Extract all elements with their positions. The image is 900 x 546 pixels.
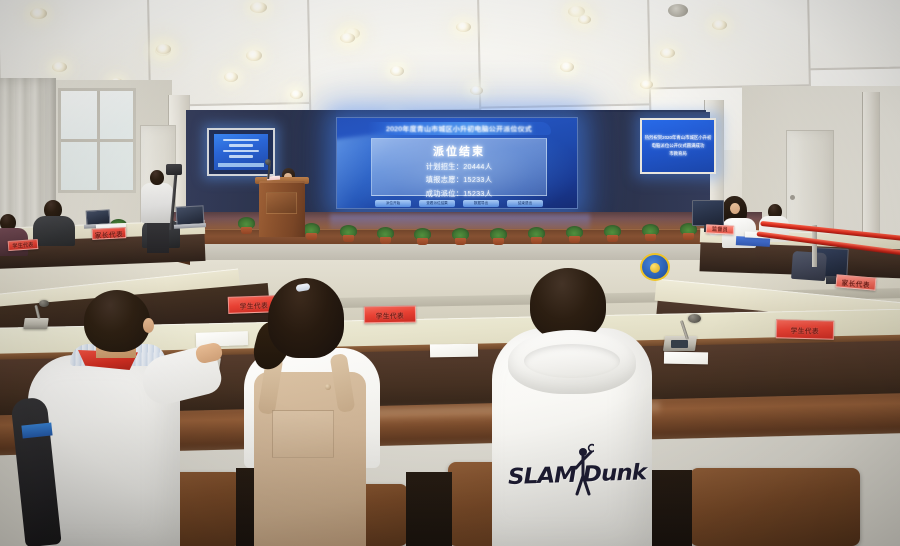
- overall-pocket: [272, 410, 334, 458]
- slide-stat-allocated: 成功派位：15233人: [426, 189, 492, 199]
- slide-button-exit[interactable]: 结束退出: [507, 200, 543, 207]
- led-banner-sign: 热烈祝贺2020年青山市城区小升初 电脑派位公开仪式圆满成功 市教育局: [640, 118, 716, 174]
- led-line-1: 热烈祝贺2020年青山市城区小升初: [645, 134, 712, 142]
- placard-text: 学生代表: [240, 299, 269, 310]
- potted-plant: [490, 227, 507, 245]
- staff-face: [730, 203, 740, 214]
- placard-text: 家长代表: [841, 276, 870, 288]
- ceiling-speaker: [668, 4, 688, 17]
- ceiling-light: [30, 8, 47, 19]
- potted-plant: [414, 227, 431, 245]
- led-line-2: 电脑派位公开仪式圆满成功: [652, 142, 705, 150]
- stage-base: [152, 244, 758, 260]
- podium-front-panel: [266, 192, 297, 214]
- wooden-chair[interactable]: [690, 468, 860, 546]
- placard-right-far: 监督员: [706, 224, 734, 234]
- ceiling-light: [390, 66, 404, 76]
- placard-student-rep-center: 学生代表: [364, 306, 416, 324]
- ceiling-light: [52, 62, 67, 72]
- document-paper: [664, 352, 708, 365]
- ceiling-light: [660, 48, 675, 58]
- ceiling-light: [640, 80, 653, 89]
- placard-parent-rep-left: 家长代表: [92, 227, 127, 240]
- microphone-head: [39, 300, 49, 307]
- slide-button-row: 派位开始 查看派位结果 数据导出 结束退出: [375, 199, 543, 207]
- potted-plant: [642, 223, 659, 241]
- podium-microphone-head: [265, 159, 271, 165]
- computer-monitor: [692, 200, 724, 226]
- cameraman-body: [141, 183, 173, 223]
- placard-left-edge: 学生代表: [8, 239, 39, 251]
- conference-microphone-far-left[interactable]: [22, 300, 56, 330]
- wall-tv-display: [207, 128, 275, 176]
- ceiling-light: [340, 33, 355, 43]
- cameraman-legs: [147, 221, 169, 253]
- chair-gap: [406, 472, 452, 546]
- projection-screen: 2020年度青山市城区小升初电脑公开派位仪式 派位结束 计划招生：20444人 …: [336, 117, 578, 209]
- ceiling-light: [156, 44, 171, 54]
- cameraman-head: [150, 170, 164, 185]
- ceiling-light: [456, 22, 471, 32]
- potted-plant: [604, 224, 621, 242]
- led-line-3: 市教育局: [669, 150, 687, 158]
- cable-reel-hub: [650, 263, 660, 273]
- ceiling-light: [560, 62, 574, 72]
- placard-text: 学生代表: [791, 324, 820, 335]
- slide-banner-text: 2020年度青山市城区小升初电脑公开派位仪式: [386, 124, 532, 133]
- slide-banner: 2020年度青山市城区小升初电脑公开派位仪式: [367, 122, 551, 135]
- monitor-stand: [826, 276, 836, 284]
- slide-content-panel: 派位结束 计划招生：20444人 填报志愿：15233人 成功派位：15233人: [371, 138, 547, 196]
- hoodie-hood-fold: [524, 344, 620, 378]
- potted-plant: [238, 216, 255, 234]
- ceiling-light: [246, 50, 262, 61]
- potted-plant: [452, 227, 469, 245]
- official-body: [33, 216, 75, 246]
- potted-plant: [528, 226, 545, 244]
- slide-stat-applications: 填报志愿：15233人: [426, 175, 492, 185]
- window: [58, 88, 136, 193]
- potted-plant: [566, 225, 583, 243]
- slide-button-view-results[interactable]: 查看派位结果: [419, 200, 455, 207]
- overall-button: [325, 384, 331, 390]
- ceiling-light: [712, 20, 727, 30]
- student-left-ear: [143, 318, 154, 333]
- conference-hall-photo: 2020年度青山市城区小升初电脑公开派位仪式 派位结束 计划招生：20444人 …: [0, 0, 900, 546]
- student-left-head: [84, 290, 150, 352]
- slide-title: 派位结束: [433, 143, 485, 159]
- placard-text: 学生代表: [376, 309, 405, 319]
- office-chair[interactable]: [791, 251, 827, 281]
- ceiling-light: [224, 72, 238, 82]
- basketball-player-silhouette: [572, 442, 594, 500]
- potted-plant: [377, 226, 394, 244]
- video-camera: [166, 164, 182, 175]
- potted-plant: [303, 222, 320, 240]
- slide-button-export[interactable]: 数据导出: [463, 200, 499, 207]
- document-paper: [430, 344, 478, 358]
- placard-text: 学生代表: [12, 241, 34, 249]
- door-handle[interactable]: [790, 195, 795, 200]
- potted-plant: [340, 224, 357, 242]
- conference-microphone-right[interactable]: [660, 312, 706, 352]
- ceiling-light: [250, 2, 267, 13]
- ceiling-light: [578, 15, 591, 24]
- placard-text: 监督员: [712, 226, 728, 234]
- placard-text: 家长代表: [95, 228, 124, 239]
- microphone-head: [688, 314, 701, 323]
- placard-student-rep-right: 学生代表: [776, 319, 834, 340]
- ceiling-light: [470, 86, 483, 95]
- wall-tv-screen: [214, 134, 268, 170]
- ceiling-light: [290, 90, 303, 99]
- slide-stat-planned: 计划招生：20444人: [426, 162, 492, 172]
- slide-button-start[interactable]: 派位开始: [375, 200, 411, 207]
